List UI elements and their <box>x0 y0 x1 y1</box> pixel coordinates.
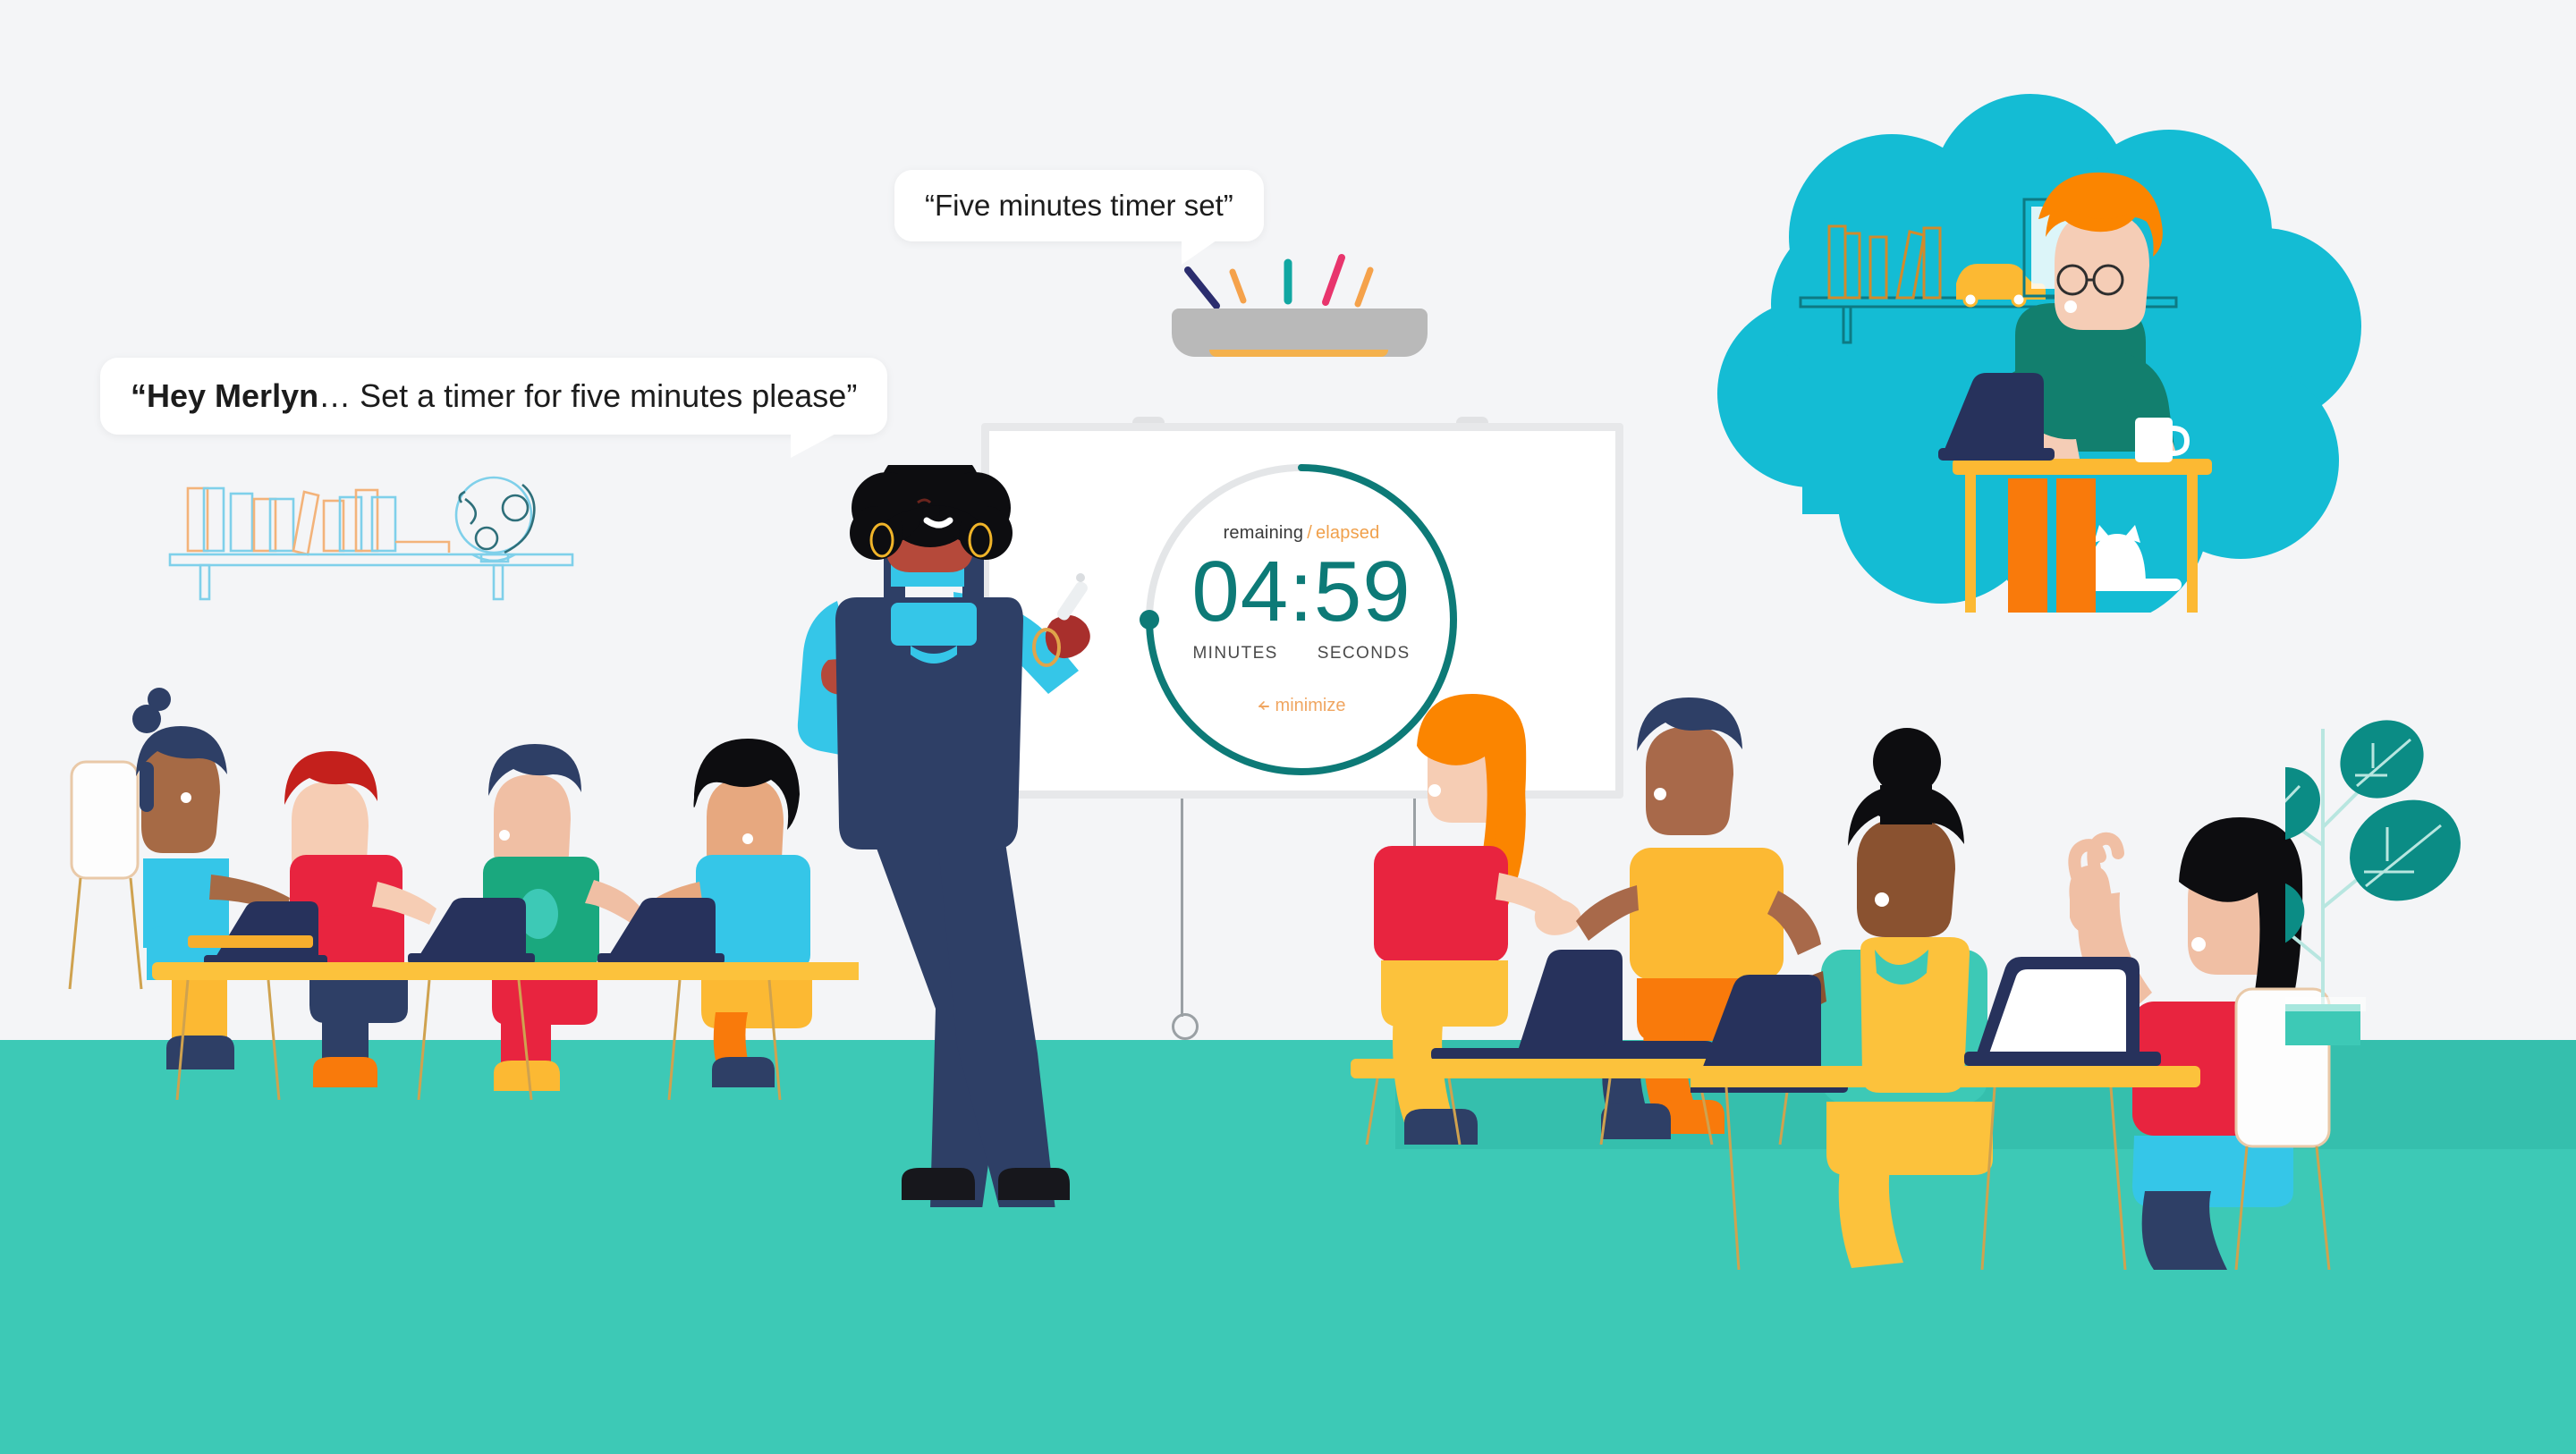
timer-legend-remaining[interactable]: remaining <box>1224 523 1304 543</box>
plant-leaves <box>2285 706 2479 960</box>
timer-minimize-label: minimize <box>1275 696 1346 716</box>
minimize-icon <box>1258 700 1270 713</box>
laptop-front-white <box>1964 957 2161 1066</box>
stylus-pointer <box>1055 573 1089 622</box>
timer-unit-minutes: MINUTES <box>1192 644 1277 664</box>
timer-units: MINUTES SECONDS <box>1192 644 1410 664</box>
left-desk-group <box>54 680 859 1100</box>
timer-unit-seconds: SECONDS <box>1318 644 1411 664</box>
device-speech-bubble: “Five minutes timer set” <box>894 170 1264 241</box>
bubble-tail <box>791 431 841 458</box>
teacher-hair <box>850 465 1013 560</box>
teacher-speech-strong: “Hey Merlyn <box>131 377 318 415</box>
teacher-speech-rest: … Set a timer for five minutes please” <box>318 377 857 415</box>
timer-digits: 04:59 <box>1191 549 1411 635</box>
timer-legend-elapsed[interactable]: elapsed <box>1316 523 1379 543</box>
illustration-canvas: “Hey Merlyn… Set a timer for five minute… <box>0 0 2576 1454</box>
teacher-shoe-left <box>902 1168 975 1200</box>
remote-student-thought-cloud <box>1704 85 2366 613</box>
bubble-tail <box>1182 236 1223 265</box>
timer-minimize-button[interactable]: minimize <box>1258 696 1346 716</box>
student-ponytail <box>132 688 290 1069</box>
teacher-speech-bubble: “Hey Merlyn… Set a timer for five minute… <box>100 358 887 435</box>
whiteboard-leg-left <box>1181 799 1183 1017</box>
merlyn-device-light <box>1209 350 1388 357</box>
whiteboard-caster-left <box>1172 1013 1199 1040</box>
chair-left <box>70 762 141 989</box>
teacher-presenting <box>751 465 1127 1207</box>
timer-legend-separator: / <box>1307 523 1312 543</box>
remote-student-head <box>2038 173 2163 330</box>
plant-pot <box>2285 997 2366 1045</box>
device-speech-text: “Five minutes timer set” <box>925 189 1233 223</box>
potted-plant <box>2285 693 2576 1051</box>
teacher-overall-pocket <box>891 603 977 646</box>
teacher-shoe-right <box>998 1168 1070 1200</box>
timer-legend: remaining/elapsed <box>1224 523 1380 544</box>
teacher-hand-right <box>1046 615 1090 658</box>
wall-bookshelf-line-art <box>161 472 581 642</box>
